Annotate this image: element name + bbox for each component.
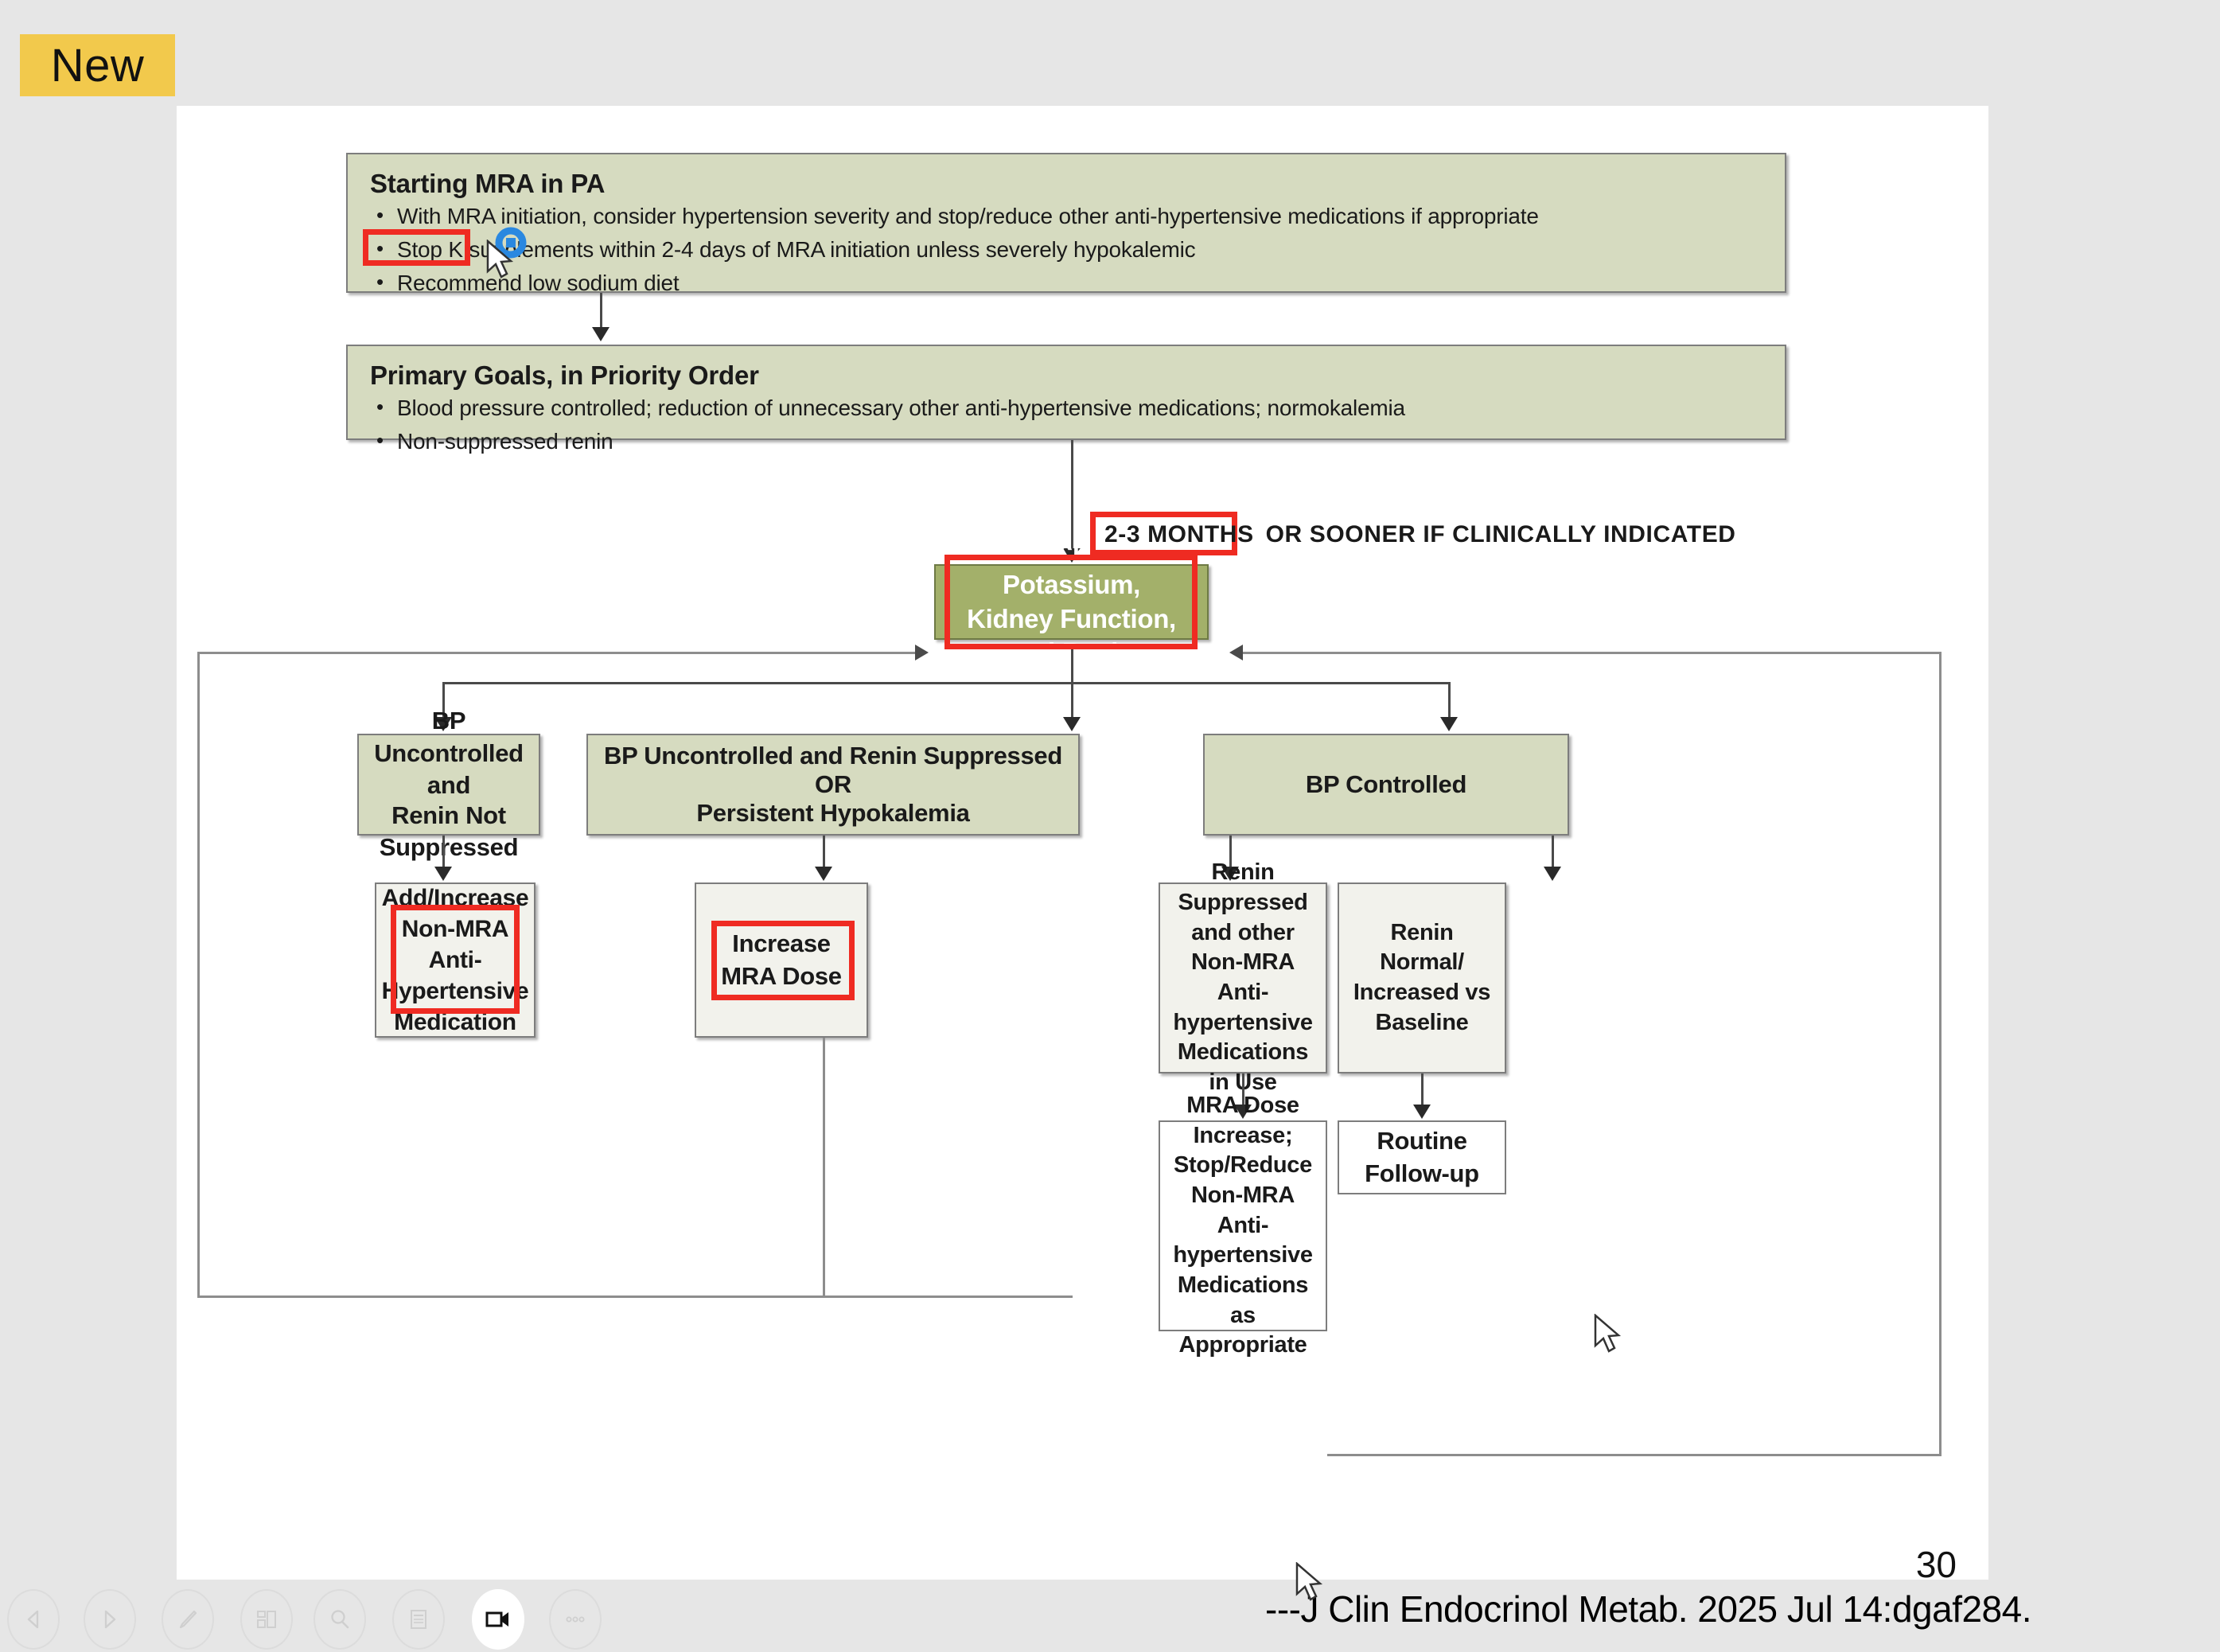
- connector-start-goals: [600, 293, 602, 329]
- chevron-left-icon: [23, 1608, 44, 1631]
- action-mra-dose-increase: MRA Dose Increase; Stop/Reduce Non-MRA A…: [1159, 1120, 1327, 1331]
- magnifier-icon: [328, 1607, 352, 1631]
- starting-mra-bullets: With MRA initiation, consider hypertensi…: [348, 202, 1785, 302]
- layout-icon: [255, 1607, 278, 1631]
- annotate-button[interactable]: [162, 1589, 214, 1650]
- timing-rest-label: OR SOONER IF CLINICALLY INDICATED: [1266, 521, 1736, 547]
- primary-goals-bullet-2: Non-suppressed renin: [397, 427, 1785, 457]
- bottom-toolbar: [0, 1579, 2220, 1652]
- video-button[interactable]: [472, 1589, 524, 1650]
- previous-slide-button[interactable]: [7, 1589, 60, 1650]
- starting-mra-bullet-2: Stop K supplements within 2-4 days of MR…: [397, 236, 1785, 265]
- check-bp-node: Check BP, Potassium, Kidney Function, an…: [934, 564, 1209, 640]
- mouse-pointer-secondary-icon: [1593, 1314, 1623, 1357]
- timing-highlighted-label: 2-3 MONTHS: [1104, 521, 1254, 547]
- slide-canvas: Starting MRA in PA With MRA initiation, …: [177, 106, 1988, 1580]
- chevron-right-icon: [99, 1608, 120, 1631]
- layout-button[interactable]: [240, 1589, 293, 1650]
- action-routine-followup-label: Routine Follow-up: [1339, 1122, 1505, 1193]
- timing-caption: 2-3 MONTHS OR SOONER IF CLINICALLY INDIC…: [1090, 521, 1736, 548]
- starting-mra-bullet-1: With MRA initiation, consider hypertensi…: [397, 202, 1785, 232]
- primary-goals-bullet-1: Blood pressure controlled; reduction of …: [397, 394, 1785, 423]
- feedback-loop-left: [197, 652, 1073, 1298]
- arrow-a4-a6: [1413, 1105, 1431, 1119]
- connector-b3-a4: [1552, 836, 1554, 869]
- feedback-right-top: [1243, 652, 1942, 654]
- starting-mra-bullet-3: Recommend low sodium diet: [397, 269, 1785, 298]
- feedback-left-top: [197, 652, 920, 654]
- primary-goals-title: Primary Goals, in Priority Order: [370, 360, 1785, 391]
- more-options-button[interactable]: [549, 1589, 602, 1650]
- action-mra-dose-increase-label: MRA Dose Increase; Stop/Reduce Non-MRA A…: [1160, 1088, 1326, 1364]
- action-routine-followup: Routine Follow-up: [1338, 1120, 1506, 1194]
- connector-a4-a6: [1421, 1073, 1424, 1107]
- feedback-left-riser: [823, 1038, 825, 1298]
- starting-mra-block: Starting MRA in PA With MRA initiation, …: [346, 153, 1786, 293]
- video-camera-icon: [485, 1609, 512, 1630]
- starting-mra-title: Starting MRA in PA: [370, 169, 1785, 199]
- arrow-start-goals: [592, 327, 610, 341]
- arrow-b3-a4: [1544, 867, 1561, 881]
- feedback-left-bottom: [197, 1295, 826, 1298]
- action-renin-normal: Renin Normal/ Increased vs Baseline: [1338, 882, 1506, 1073]
- next-slide-button[interactable]: [84, 1589, 136, 1650]
- new-badge: New: [20, 34, 175, 96]
- arrow-branch-right: [1440, 717, 1458, 731]
- branch-bp-controlled: BP Controlled: [1203, 734, 1569, 836]
- action-renin-normal-label: Renin Normal/ Increased vs Baseline: [1339, 915, 1505, 1042]
- new-badge-label: New: [51, 39, 145, 92]
- feedback-right-bottom: [1327, 1454, 1942, 1456]
- primary-goals-bullets: Blood pressure controlled; reduction of …: [348, 394, 1785, 461]
- pen-icon: [176, 1607, 200, 1631]
- arrow-feedback-left-into-check: [915, 645, 929, 660]
- feedback-right-riser: [1939, 652, 1942, 1456]
- zoom-button[interactable]: [314, 1589, 366, 1650]
- primary-goals-block: Primary Goals, in Priority Order Blood p…: [346, 345, 1786, 440]
- notes-button[interactable]: [392, 1589, 445, 1650]
- fanout-right-drop: [1448, 682, 1451, 719]
- notes-icon: [407, 1607, 430, 1631]
- ellipsis-icon: [563, 1615, 587, 1624]
- arrow-feedback-right-into-check: [1229, 645, 1243, 660]
- action-renin-suppressed: Renin Suppressed and other Non-MRA Anti-…: [1159, 882, 1327, 1073]
- branch3-line1: BP Controlled: [1298, 766, 1474, 804]
- action-renin-suppressed-label: Renin Suppressed and other Non-MRA Anti-…: [1160, 855, 1326, 1101]
